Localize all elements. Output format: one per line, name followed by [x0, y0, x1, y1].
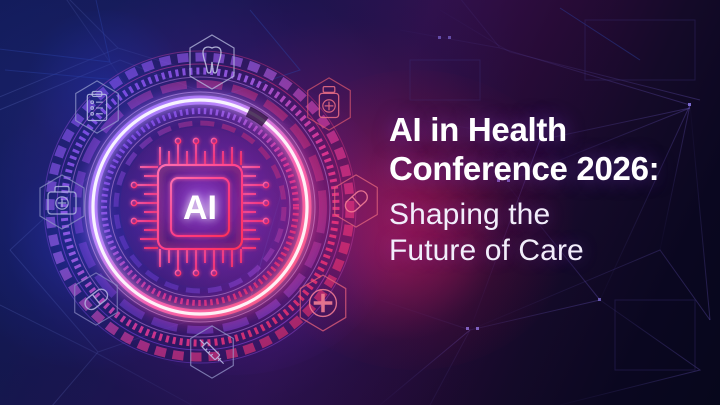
- syringe-icon: [183, 323, 241, 381]
- headline-line-1: AI in Health: [389, 110, 709, 149]
- medical-bag-icon: [32, 172, 92, 232]
- pill-bottle-icon: [300, 75, 358, 133]
- conference-banner: AI: [0, 0, 720, 405]
- headline-block: AI in Health Conference 2026: Shaping th…: [389, 110, 709, 269]
- pill-icon: [67, 270, 125, 328]
- subhead-line-2: Future of Care: [389, 233, 709, 269]
- headline-line-2: Conference 2026:: [389, 149, 709, 188]
- clipboard-icon: [68, 78, 126, 136]
- tooth-icon: [182, 32, 242, 92]
- subhead-line-1: Shaping the: [389, 197, 709, 233]
- capsule-icon: [327, 172, 385, 230]
- chip-ai-label: AI: [183, 189, 217, 227]
- medical-cross-icon: [292, 272, 354, 334]
